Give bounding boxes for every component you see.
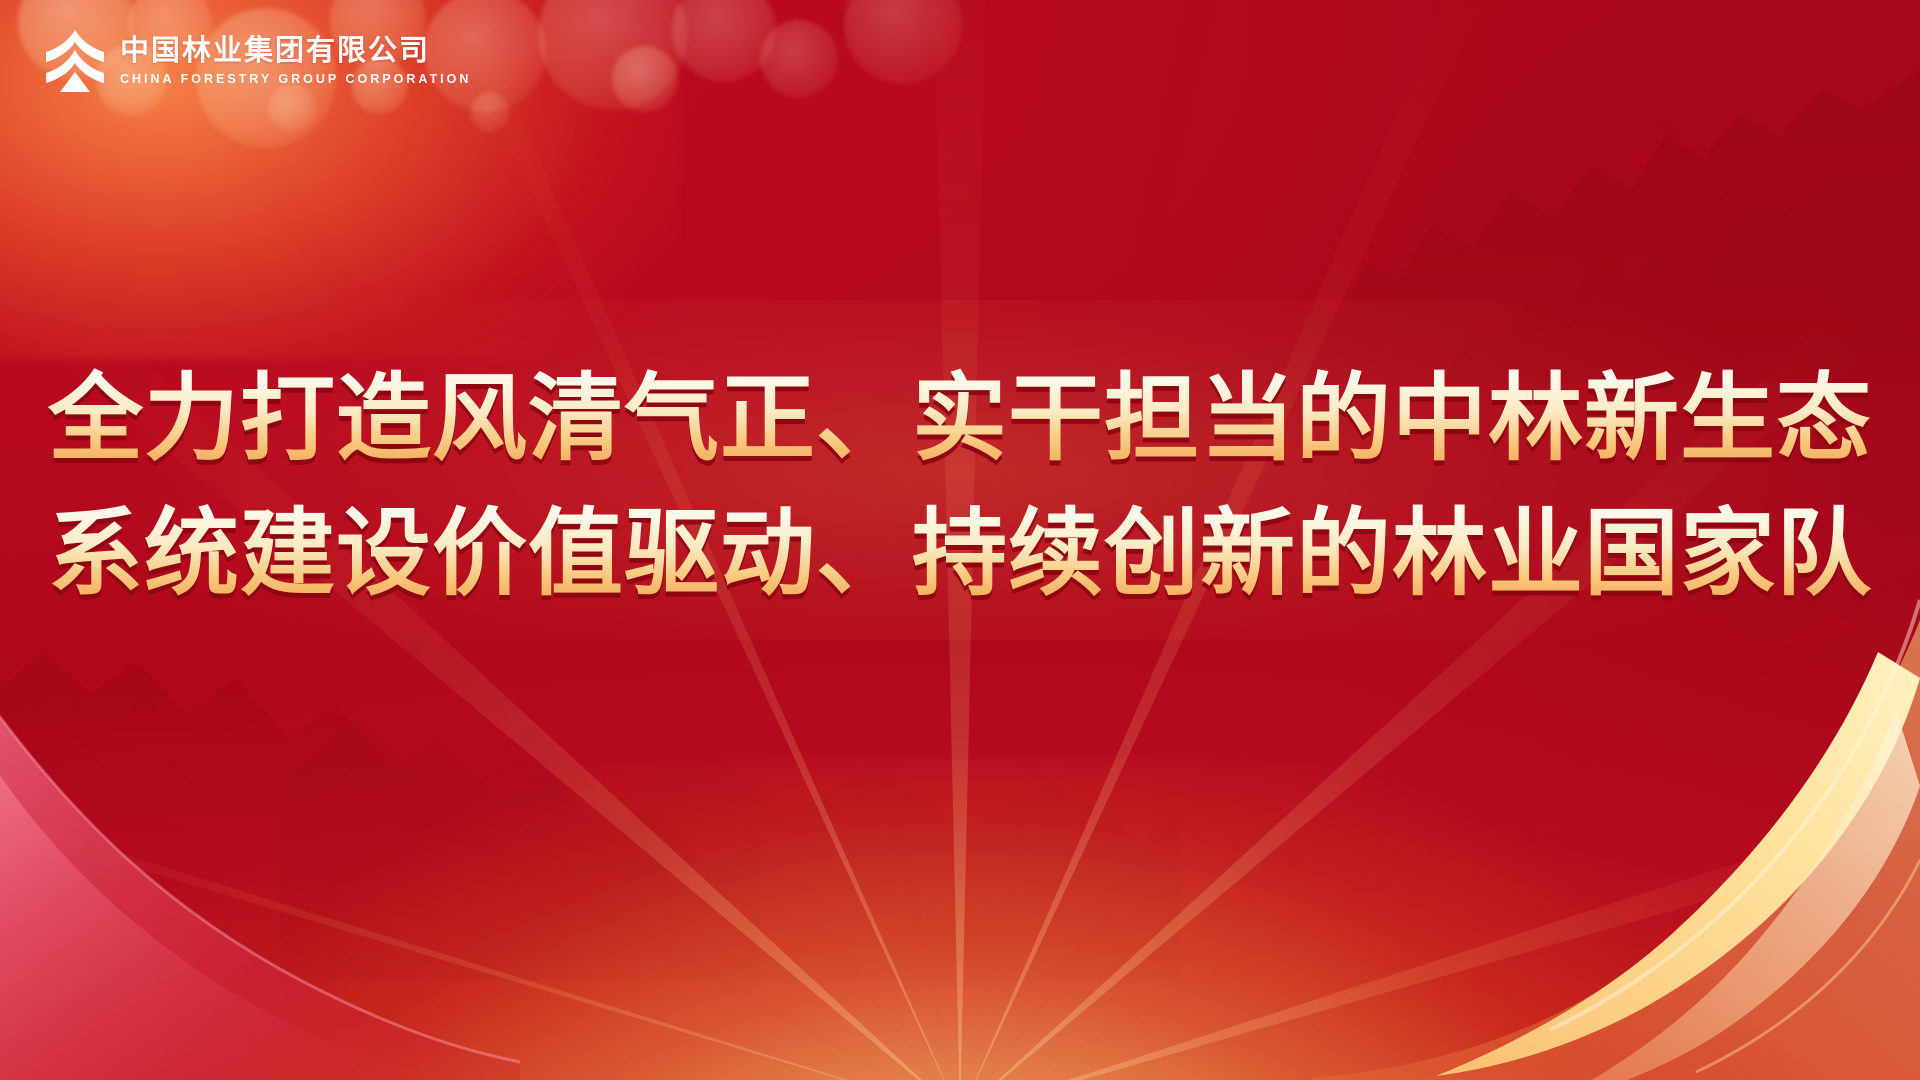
headline-line-2: 系统建设价值驱动、持续创新的林业国家队 系统建设价值驱动、持续创新的林业国家队 xyxy=(40,487,1880,622)
logo-company-name-cn: 中国林业集团有限公司 xyxy=(120,35,471,67)
headline-line-1: 全力打造风清气正、实干担当的中林新生态 全力打造风清气正、实干担当的中林新生态 xyxy=(40,352,1880,487)
bokeh-circle xyxy=(470,92,510,132)
logo-company-name-en: CHINA FORESTRY GROUP CORPORATION xyxy=(120,72,471,87)
promo-banner: 中国林业集团有限公司 CHINA FORESTRY GROUP CORPORAT… xyxy=(0,0,1920,1080)
headline-line-2-text: 系统建设价值驱动、持续创新的林业国家队 xyxy=(48,487,1872,622)
bokeh-circle xyxy=(672,0,776,82)
headline: 全力打造风清气正、实干担当的中林新生态 全力打造风清气正、实干担当的中林新生态 … xyxy=(0,352,1920,622)
logo-text-block: 中国林业集团有限公司 CHINA FORESTRY GROUP CORPORAT… xyxy=(120,35,471,87)
headline-line-1-text: 全力打造风清气正、实干担当的中林新生态 xyxy=(48,352,1872,487)
bokeh-circle xyxy=(612,46,678,112)
bokeh-circle xyxy=(844,0,962,84)
gold-ribbons xyxy=(920,560,1920,1080)
bokeh-circle xyxy=(760,20,838,98)
china-forestry-group-emblem-icon xyxy=(44,28,106,94)
logo[interactable]: 中国林业集团有限公司 CHINA FORESTRY GROUP CORPORAT… xyxy=(44,28,471,94)
silk-curve-left xyxy=(0,650,520,1080)
